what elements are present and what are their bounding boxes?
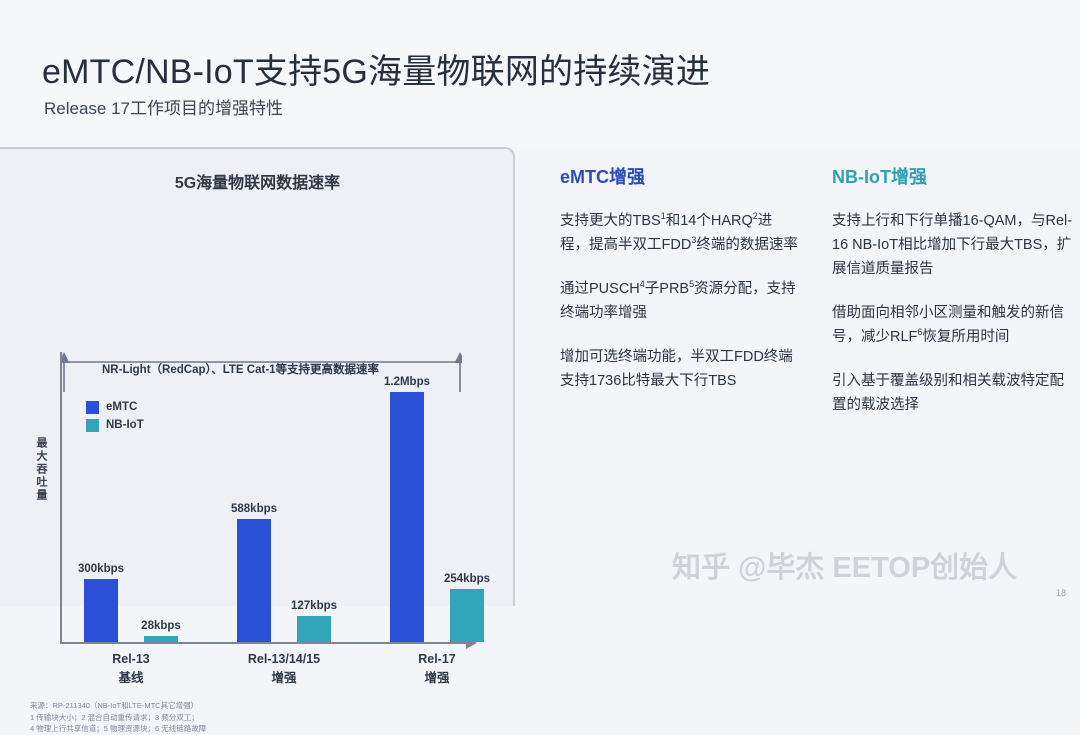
bar-nb-iot[interactable]: [297, 616, 331, 642]
bar-value-label: 254kbps: [444, 573, 490, 585]
slide-header: eMTC/NB-IoT支持5G海量物联网的持续演进 Release 17工作项目…: [0, 0, 1080, 147]
feature-paragraph: 支持更大的TBS1和14个HARQ2进程，提高半双工FDD3终端的数据速率: [560, 209, 800, 257]
footnote-line: 1 传输块大小；2 混合自动重传请求；3 频分双工；: [30, 712, 206, 724]
bar-value-label: 1.2Mbps: [384, 376, 430, 388]
feature-column-nbiot: NB-IoT增强 支持上行和下行单播16-QAM，与Rel-16 NB-IoT相…: [832, 163, 1077, 437]
bar-group: 300kbps28kbpsRel-13基线: [84, 392, 178, 642]
bar-group: 588kbps127kbpsRel-13/14/15增强: [237, 392, 331, 642]
chart-annotation-label: NR-Light（RedCap）、LTE Cat-1等支持更高数据速率: [102, 361, 379, 377]
bar-group: 1.2Mbps254kbpsRel-17增强: [390, 392, 484, 642]
feature-column-emtc-heading: eMTC增强: [560, 163, 800, 189]
feature-column-emtc: eMTC增强 支持更大的TBS1和14个HARQ2进程，提高半双工FDD3终端的…: [560, 163, 800, 413]
footnote-line: 来源：RP-211340（NB-IoT和LTE-MTC其它增强）: [30, 700, 206, 712]
chart-title: 5G海量物联网数据速率: [0, 169, 515, 193]
bar-value-label: 127kbps: [291, 600, 337, 612]
feature-column-nbiot-body: 支持上行和下行单播16-QAM，与Rel-16 NB-IoT相比增加下行最大TB…: [832, 209, 1077, 417]
feature-column-nbiot-heading: NB-IoT增强: [832, 163, 1077, 189]
x-axis-line: [60, 642, 468, 644]
bar-value-label: 28kbps: [141, 620, 181, 632]
bar-value-label: 588kbps: [231, 503, 277, 515]
feature-paragraph: 引入基于覆盖级别和相关载波特定配置的载波选择: [832, 369, 1077, 417]
plot-area: 300kbps28kbpsRel-13基线588kbps127kbpsRel-1…: [62, 392, 468, 642]
bar-value-label: 300kbps: [78, 563, 124, 575]
feature-paragraph: 增加可选终端功能，半双工FDD终端支持1736比特最大下行TBS: [560, 345, 800, 393]
bar-emtc[interactable]: [390, 392, 424, 642]
bar-nb-iot[interactable]: [450, 589, 484, 642]
watermark: 知乎 @毕杰 EETOP创始人: [672, 544, 1017, 586]
page-subtitle: Release 17工作项目的增强特性: [44, 94, 283, 119]
chart-footnotes: 来源：RP-211340（NB-IoT和LTE-MTC其它增强）1 传输块大小；…: [30, 700, 206, 735]
x-axis-category-label: Rel-13/14/15增强: [248, 650, 320, 688]
chart-panel: 5G海量物联网数据速率 NR-Light（RedCap）、LTE Cat-1等支…: [0, 147, 515, 606]
bar-emtc[interactable]: [237, 519, 271, 642]
bar-nb-iot[interactable]: [144, 636, 178, 642]
x-axis-category-label: Rel-13基线: [112, 650, 150, 688]
page-title: eMTC/NB-IoT支持5G海量物联网的持续演进: [42, 44, 710, 93]
bar-emtc[interactable]: [84, 579, 118, 642]
feature-paragraph: 支持上行和下行单播16-QAM，与Rel-16 NB-IoT相比增加下行最大TB…: [832, 209, 1077, 281]
page-number: 18: [1056, 588, 1066, 598]
footnote-line: 4 物理上行共享信道；5 物理资源块；6 无线链路故障: [30, 723, 206, 735]
feature-paragraph: 通过PUSCH4子PRB5资源分配，支持终端功率增强: [560, 277, 800, 325]
feature-column-emtc-body: 支持更大的TBS1和14个HARQ2进程，提高半双工FDD3终端的数据速率通过P…: [560, 209, 800, 393]
feature-paragraph: 借助面向相邻小区测量和触发的新信号，减少RLF6恢复所用时间: [832, 301, 1077, 349]
y-axis-label: 最大吞吐量: [33, 437, 49, 502]
x-axis-category-label: Rel-17增强: [418, 650, 456, 688]
